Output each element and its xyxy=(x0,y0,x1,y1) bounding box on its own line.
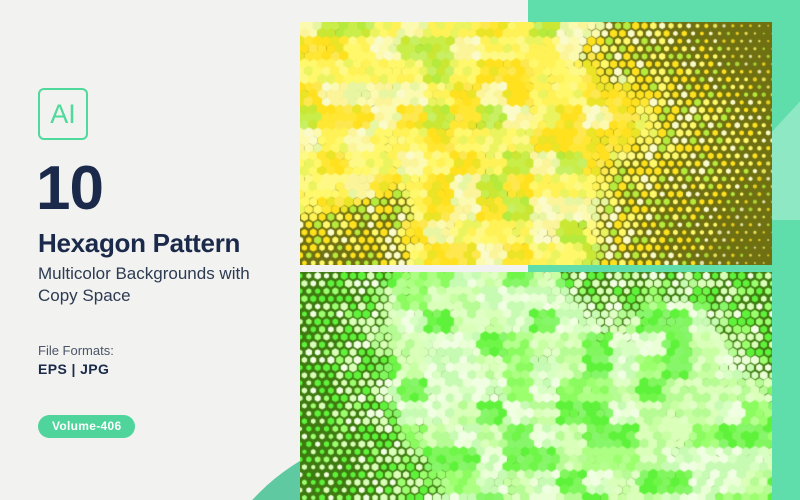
file-formats-value: EPS | JPG xyxy=(38,361,109,377)
hexagon-pattern-bottom xyxy=(300,272,772,500)
page-title: Hexagon Pattern xyxy=(38,230,240,258)
file-formats-label: File Formats: xyxy=(38,343,114,358)
info-column: AI 10 Hexagon Pattern Multicolor Backgro… xyxy=(0,0,300,500)
hexagon-pattern-top xyxy=(300,22,772,265)
poster-canvas: AI 10 Hexagon Pattern Multicolor Backgro… xyxy=(0,0,800,500)
ai-format-badge-label: AI xyxy=(50,101,76,128)
volume-badge: Volume-406 xyxy=(38,415,135,438)
preview-panel-top[interactable] xyxy=(300,22,772,265)
page-subtitle: Multicolor Backgrounds with Copy Space xyxy=(38,263,288,307)
item-count: 10 xyxy=(36,158,103,220)
preview-panel-bottom[interactable] xyxy=(300,272,772,500)
ai-format-badge: AI xyxy=(38,88,88,140)
